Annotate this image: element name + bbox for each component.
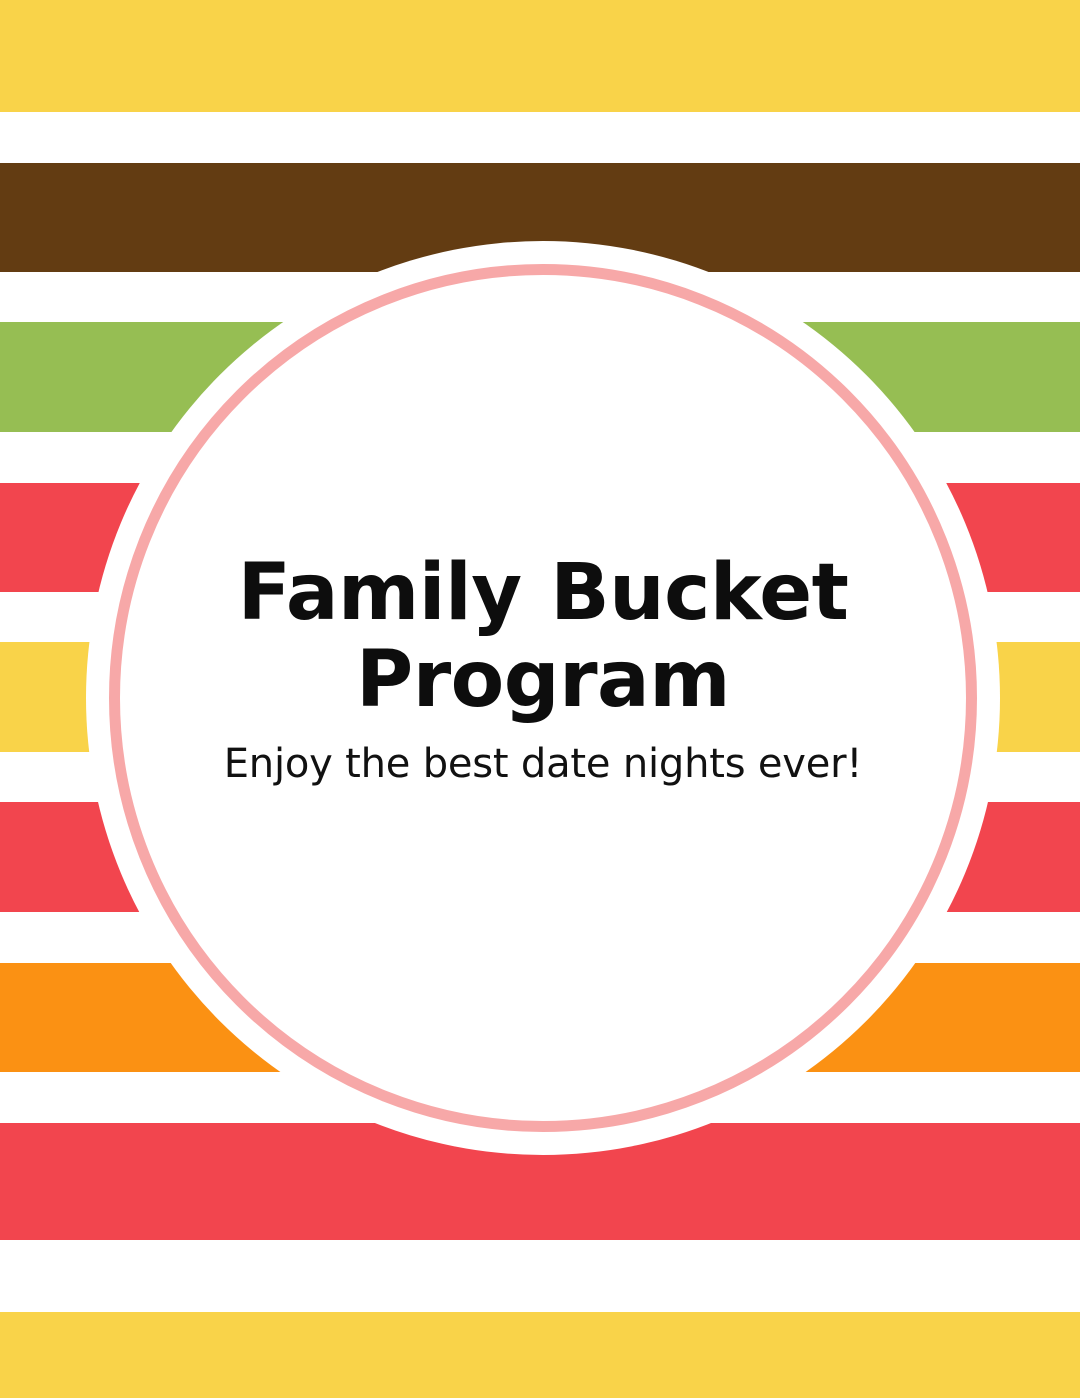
stripe-yellow-3 bbox=[0, 1312, 1080, 1398]
poster-subtitle: Enjoy the best date nights ever! bbox=[203, 739, 883, 790]
circle-text-block: Family Bucket Program Enjoy the best dat… bbox=[203, 550, 883, 790]
poster-canvas: Family Bucket Program Enjoy the best dat… bbox=[0, 0, 1080, 1398]
page-title: Family Bucket Program bbox=[203, 550, 883, 725]
stripe-yellow-1 bbox=[0, 0, 1080, 112]
